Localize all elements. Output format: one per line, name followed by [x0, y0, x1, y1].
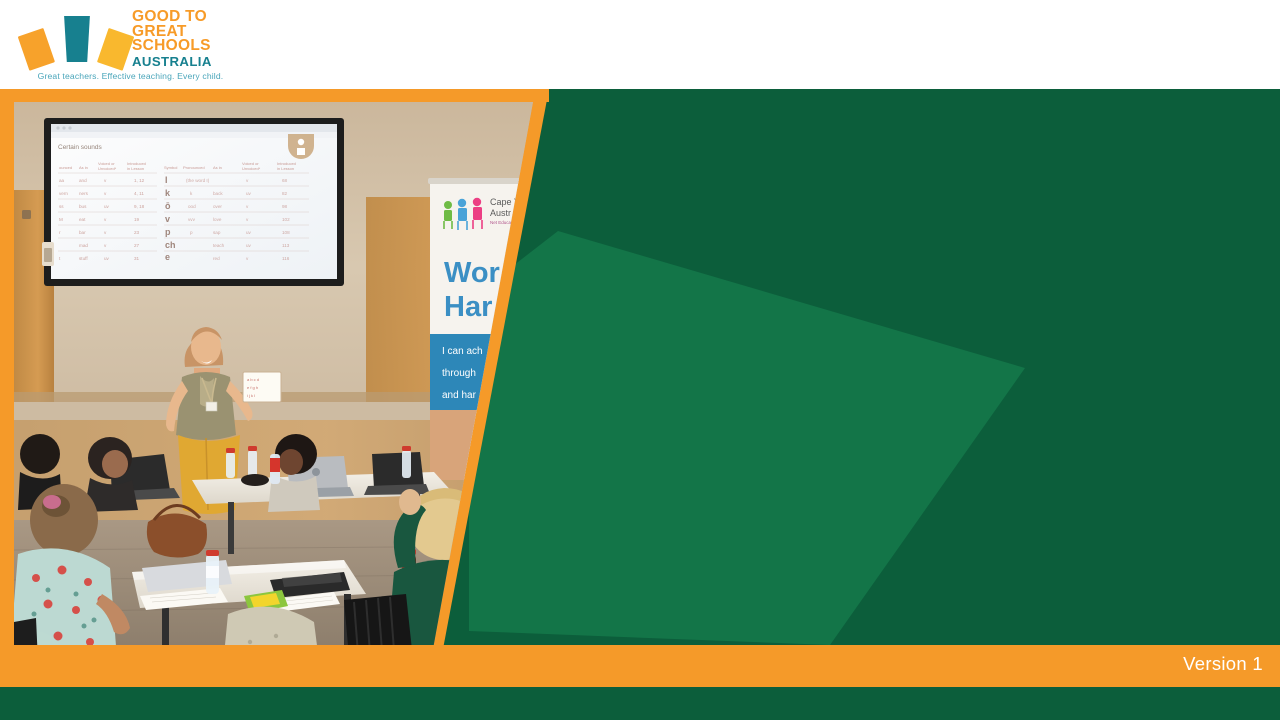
brand-logo: GOOD TO GREAT SCHOOLS AUSTRALIA Great te… — [28, 8, 233, 82]
svg-text:4, 11: 4, 11 — [134, 191, 144, 196]
svg-text:23: 23 — [134, 230, 140, 235]
svg-text:bar: bar — [79, 230, 86, 235]
svg-text:I can ach: I can ach — [442, 346, 483, 357]
svg-text:Symbol: Symbol — [164, 165, 177, 170]
bottom-green-strip — [0, 687, 1280, 720]
svg-text:uv: uv — [104, 256, 110, 261]
svg-text:As in: As in — [79, 165, 88, 170]
svg-text:ounced: ounced — [59, 165, 72, 170]
logo-tagline: Great teachers. Effective teaching. Ever… — [28, 71, 233, 81]
svg-text:a b c d: a b c d — [247, 377, 259, 382]
svg-text:in Lesson: in Lesson — [277, 166, 294, 171]
logo-wordmark: GOOD TO GREAT SCHOOLS AUSTRALIA — [132, 10, 234, 69]
svg-text:27: 27 — [134, 243, 140, 248]
svg-text:As in: As in — [213, 165, 222, 170]
svg-text:back: back — [213, 191, 223, 196]
svg-text:sap: sap — [213, 230, 221, 235]
logo-line-schools: SCHOOLS — [132, 39, 234, 54]
svg-text:68: 68 — [282, 178, 288, 183]
logo-book-left-icon — [18, 28, 55, 71]
svg-text:108: 108 — [282, 230, 290, 235]
svg-text:p: p — [165, 227, 171, 237]
svg-text:ners: ners — [79, 191, 89, 196]
svg-text:98: 98 — [282, 204, 288, 209]
svg-text:through: through — [442, 368, 476, 379]
presentation-slide: GOOD TO GREAT SCHOOLS AUSTRALIA Great te… — [0, 0, 1280, 720]
svg-text:love: love — [213, 217, 222, 222]
svg-text:82: 82 — [282, 191, 288, 196]
svg-text:Pronounced: Pronounced — [183, 165, 205, 170]
svg-text:(the word I): (the word I) — [186, 178, 210, 183]
svg-text:ss: ss — [59, 204, 64, 209]
svg-text:bus: bus — [79, 204, 87, 209]
svg-text:vern: vern — [59, 191, 68, 196]
svg-text:teach: teach — [213, 243, 225, 248]
svg-text:uv: uv — [104, 204, 110, 209]
svg-text:and har: and har — [442, 390, 477, 401]
slide-body: Certain sounds ounced As in Voiced or Un… — [0, 89, 1280, 720]
svg-text:and: and — [79, 178, 87, 183]
svg-text:uv: uv — [246, 191, 252, 196]
svg-text:mad: mad — [79, 243, 88, 248]
svg-text:Austr: Austr — [490, 208, 511, 218]
svg-text:9, 18: 9, 18 — [134, 204, 145, 209]
svg-text:31: 31 — [134, 256, 140, 261]
svg-text:M: M — [59, 217, 63, 222]
footer-bar: Version 1 — [0, 645, 1280, 687]
svg-text:uv: uv — [246, 243, 252, 248]
svg-text:e: e — [165, 252, 170, 262]
svg-text:eat: eat — [79, 217, 86, 222]
slide-header: GOOD TO GREAT SCHOOLS AUSTRALIA Great te… — [0, 0, 1280, 89]
laptop-back-far-right — [364, 452, 430, 495]
svg-text:over: over — [213, 204, 222, 209]
svg-text:i j k l: i j k l — [247, 393, 255, 398]
logo-book-middle-icon — [62, 16, 92, 62]
logo-book-right-icon — [97, 28, 134, 71]
svg-text:Unvoiced*: Unvoiced* — [98, 166, 117, 171]
svg-text:e f g h: e f g h — [247, 385, 258, 390]
svg-text:ch: ch — [165, 240, 176, 250]
svg-text:Certain sounds: Certain sounds — [58, 144, 102, 151]
svg-text:Har: Har — [444, 291, 492, 323]
svg-text:Unvoiced*: Unvoiced* — [242, 166, 261, 171]
logo-line-australia: AUSTRALIA — [132, 55, 234, 70]
svg-text:113: 113 — [282, 243, 290, 248]
svg-text:vvv: vvv — [188, 217, 196, 222]
svg-text:19: 19 — [134, 217, 140, 222]
version-label: Version 1 — [1183, 653, 1263, 675]
svg-text:uv: uv — [246, 230, 252, 235]
svg-text:red: red — [213, 256, 220, 261]
svg-text:ood: ood — [188, 204, 196, 209]
svg-text:ō: ō — [165, 201, 171, 211]
svg-text:1, 12: 1, 12 — [134, 178, 145, 183]
svg-text:p: p — [190, 230, 193, 235]
svg-text:aa: aa — [59, 178, 65, 183]
svg-text:stuff: stuff — [79, 256, 88, 261]
svg-text:116: 116 — [282, 256, 290, 261]
svg-text:Wor: Wor — [444, 257, 500, 289]
svg-text:in Lesson: in Lesson — [127, 166, 144, 171]
logo-books-icon — [28, 10, 126, 62]
svg-text:I: I — [165, 175, 168, 185]
svg-text:102: 102 — [282, 217, 290, 222]
svg-text:v: v — [165, 214, 170, 224]
